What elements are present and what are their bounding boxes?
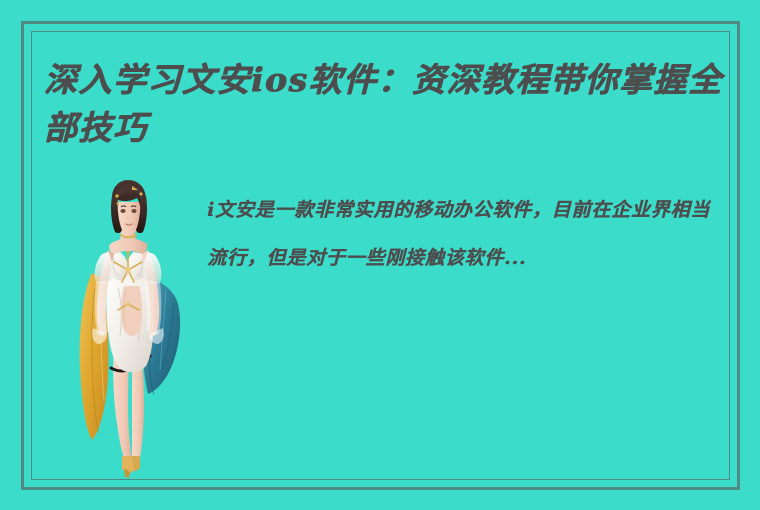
article-card: 深入学习文安ios软件：资深教程带你掌握全部技巧 i文安是一款非常实用的移动办公… [0,0,760,510]
right-eye [131,209,136,213]
page-title: 深入学习文安ios软件：资深教程带你掌握全部技巧 [44,56,734,152]
heels-icon [122,456,140,478]
character-illustration [62,178,202,478]
harness-jewel-lower [126,302,130,306]
article-summary: i文安是一款非常实用的移动办公软件，目前在企业界相当流行，但是对于一些刚接触该软… [207,186,727,282]
head-shape [111,180,147,235]
left-eye [120,209,125,213]
harness-jewel [125,267,130,272]
